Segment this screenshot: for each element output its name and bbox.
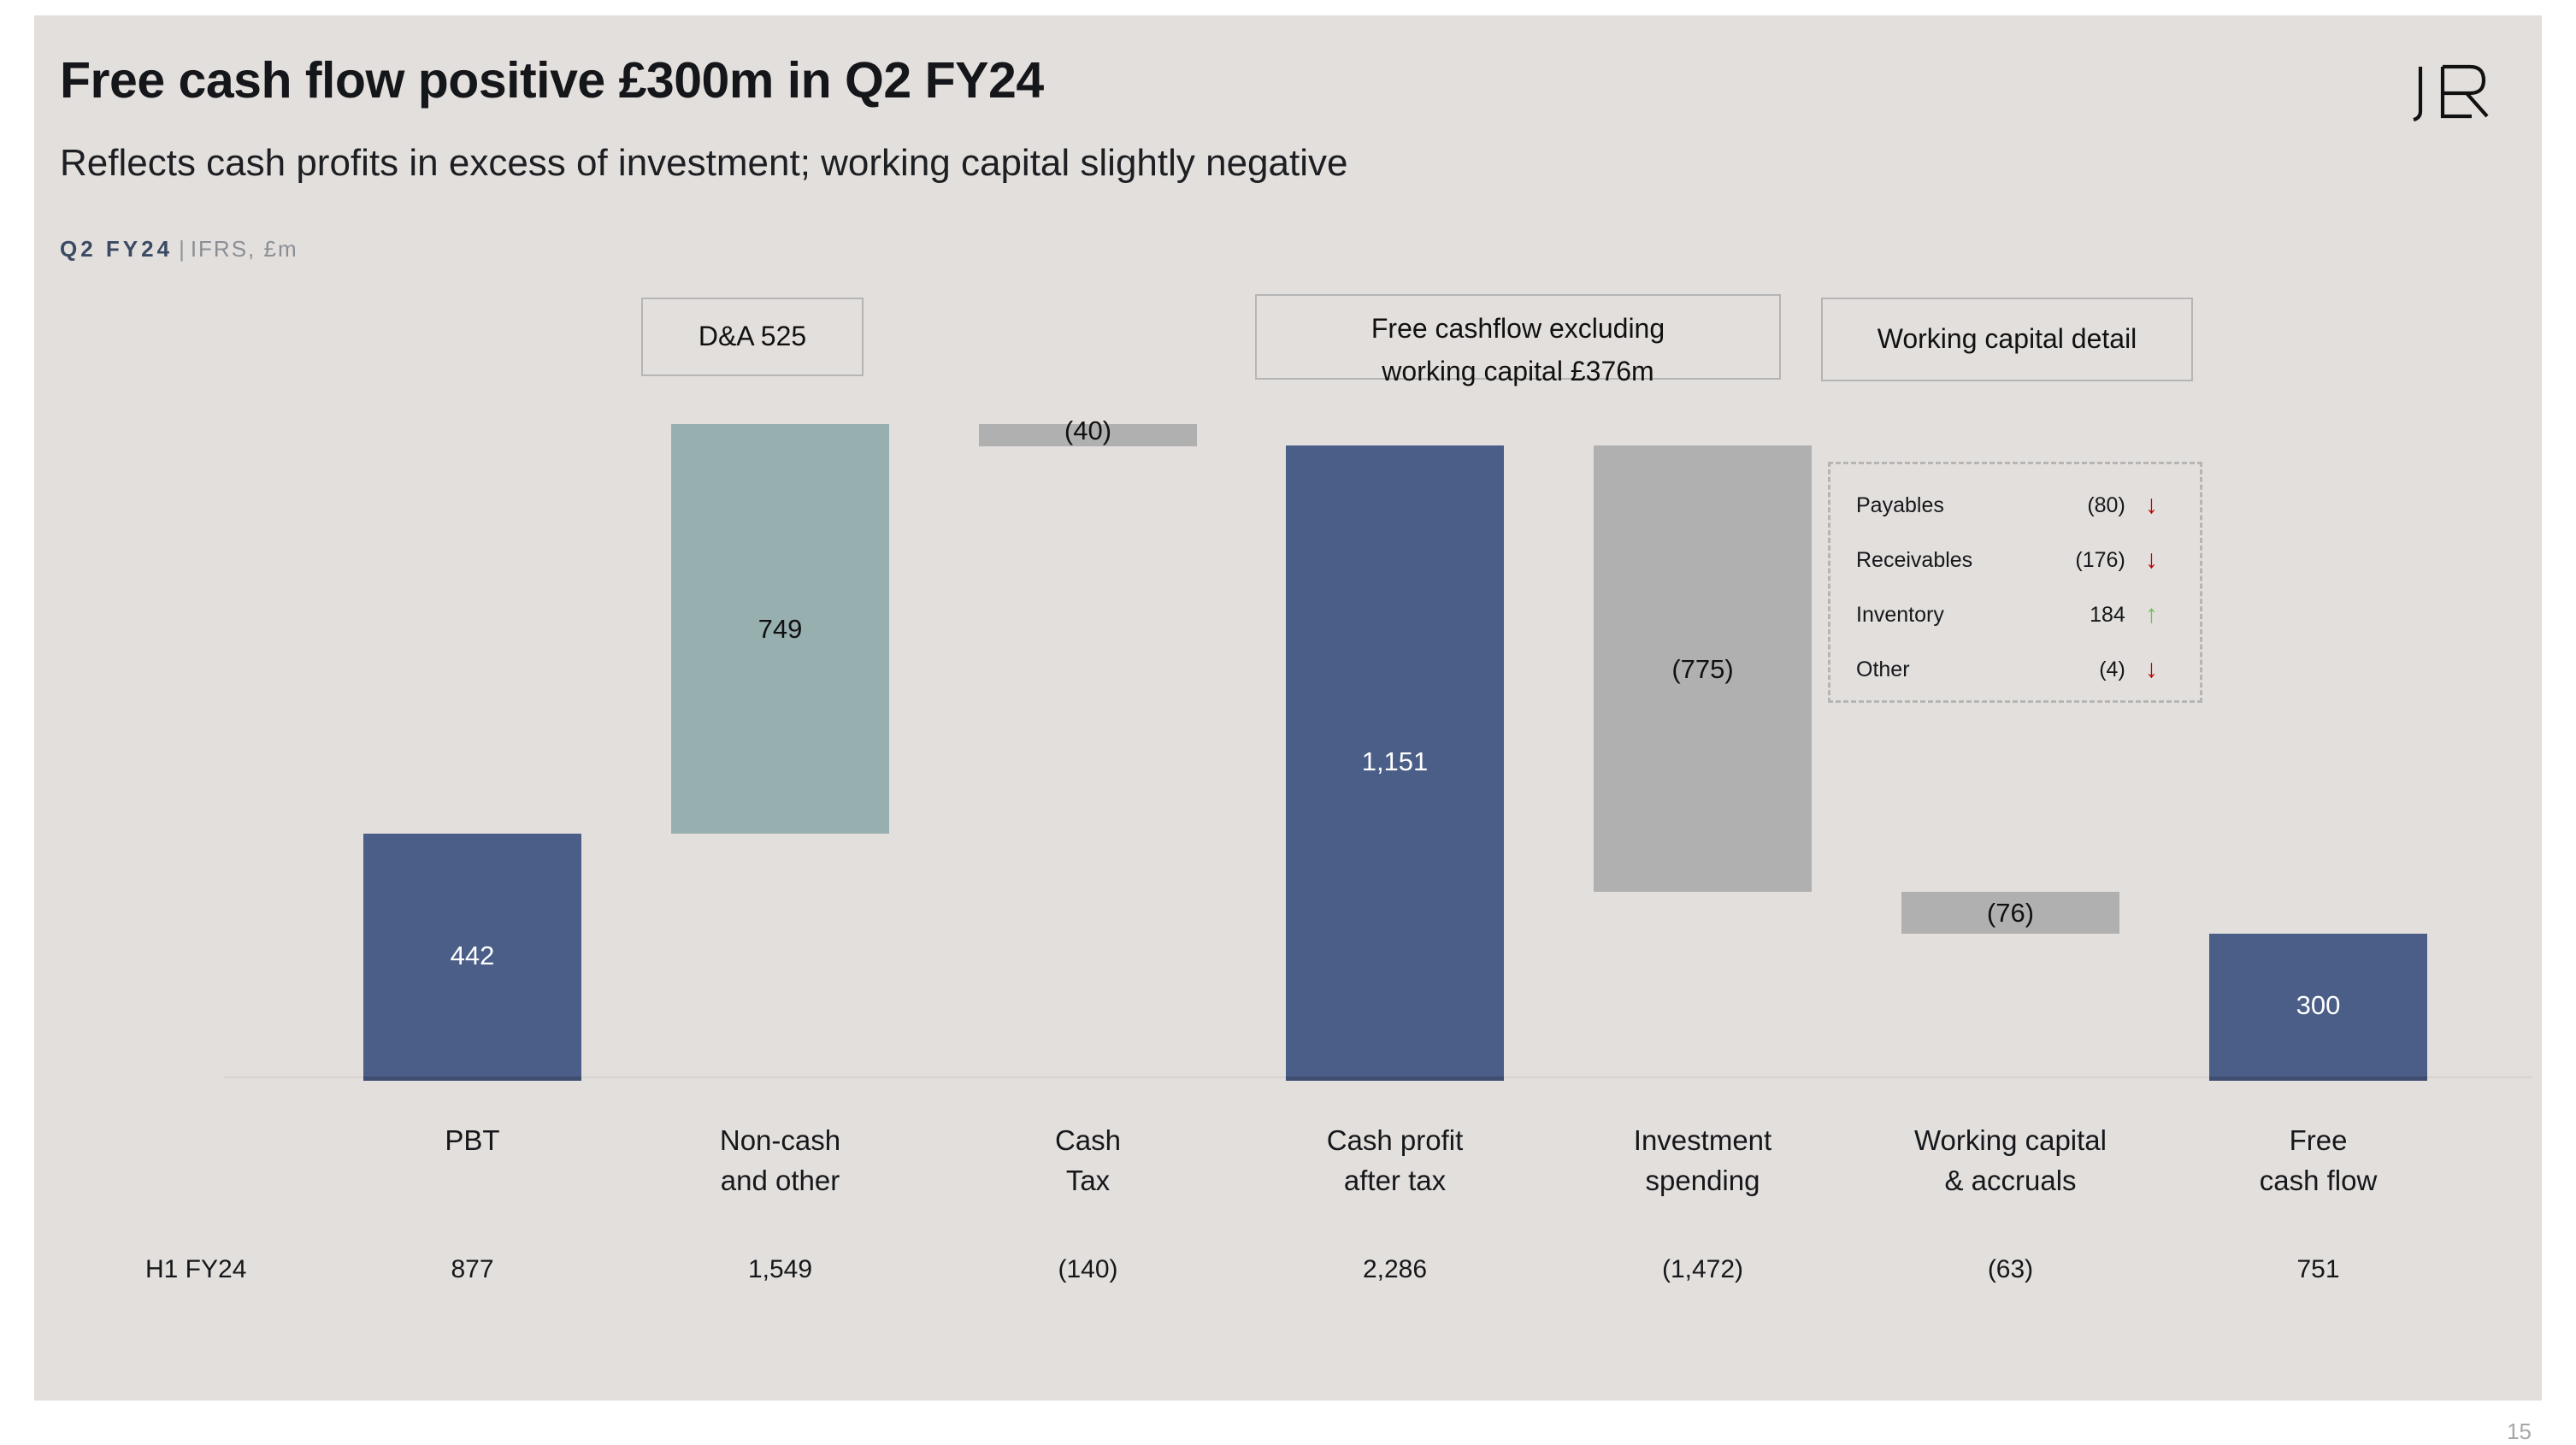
callout-fcf-ex-wc: Free cashflow excluding working capital … xyxy=(1255,294,1781,380)
wc-value: (80) xyxy=(2013,493,2125,518)
category-line-2: and other xyxy=(671,1161,889,1201)
wc-label: Other xyxy=(1856,658,2013,682)
bar-underline-pbt xyxy=(363,1076,581,1081)
wc-label: Payables xyxy=(1856,493,2013,518)
wc-value: 184 xyxy=(2013,603,2125,628)
wc-label: Inventory xyxy=(1856,603,2013,628)
bar-cash-profit-after-tax: 1,151 xyxy=(1286,445,1504,1076)
wc-value: (4) xyxy=(2013,658,2125,682)
comparison-value-cash-profit-after-tax: 2,286 xyxy=(1286,1255,1504,1284)
callout-fcf-line2: working capital £376m xyxy=(1257,351,1779,393)
bar-underline-cash-profit xyxy=(1286,1076,1504,1081)
wc-row-payables: Payables (80) ↓ xyxy=(1856,478,2178,533)
bar-underline-free-cash-flow xyxy=(2209,1076,2427,1081)
bar-pbt: 442 xyxy=(363,834,581,1076)
callout-da-label: D&A 525 xyxy=(699,316,806,358)
arrow-down-icon: ↓ xyxy=(2125,657,2178,682)
bar-free-cash-flow: 300 xyxy=(2209,934,2427,1076)
category-label-cash-profit-after-tax: Cash profit after tax xyxy=(1286,1121,1504,1201)
bar-cash-tax: (40) xyxy=(979,424,1197,446)
category-label-non-cash-and-other: Non-cash and other xyxy=(671,1121,889,1201)
bar-non-cash-and-other: 749 xyxy=(671,424,889,834)
bar-working-capital-accruals: (76) xyxy=(1901,892,2119,934)
category-label-working-capital-accruals: Working capital & accruals xyxy=(1867,1121,2154,1201)
waterfall-chart: D&A 525 Free cashflow excluding working … xyxy=(34,15,2542,1401)
category-line-2: after tax xyxy=(1286,1161,1504,1201)
comparison-value-free-cash-flow: 751 xyxy=(2209,1255,2427,1284)
category-line-1: Free xyxy=(2209,1121,2427,1161)
comparison-value-investment-spending: (1,472) xyxy=(1594,1255,1812,1284)
callout-da: D&A 525 xyxy=(641,298,864,376)
category-line-2: & accruals xyxy=(1867,1161,2154,1201)
category-label-pbt: PBT xyxy=(363,1121,581,1161)
comparison-value-pbt: 877 xyxy=(363,1255,581,1284)
wc-row-inventory: Inventory 184 ↑ xyxy=(1856,587,2178,642)
bar-value-label: (775) xyxy=(1671,656,1733,682)
category-line-1: PBT xyxy=(363,1121,581,1161)
category-line-2: Tax xyxy=(979,1161,1197,1201)
bar-value-label: 749 xyxy=(758,616,803,642)
category-line-2: spending xyxy=(1594,1161,1812,1201)
slide-canvas: Free cash flow positive £300m in Q2 FY24… xyxy=(34,15,2542,1401)
comparison-value-cash-tax: (140) xyxy=(979,1255,1197,1284)
category-line-1: Non-cash xyxy=(671,1121,889,1161)
bar-value-label: (40) xyxy=(1064,417,1111,444)
callout-wc-title-label: Working capital detail xyxy=(1877,318,2137,361)
bar-value-label: 1,151 xyxy=(1362,748,1429,775)
bar-investment-spending: (775) xyxy=(1594,445,1812,892)
comparison-value-working-capital-accruals: (63) xyxy=(1901,1255,2119,1284)
bar-value-label: (76) xyxy=(1987,899,2034,926)
category-line-1: Investment xyxy=(1594,1121,1812,1161)
category-label-investment-spending: Investment spending xyxy=(1594,1121,1812,1201)
wc-label: Receivables xyxy=(1856,548,2013,573)
category-label-free-cash-flow: Free cash flow xyxy=(2209,1121,2427,1201)
wc-row-receivables: Receivables (176) ↓ xyxy=(1856,533,2178,587)
page-number: 15 xyxy=(2507,1418,2532,1445)
working-capital-detail-box: Payables (80) ↓ Receivables (176) ↓ Inve… xyxy=(1828,462,2202,703)
bar-value-label: 300 xyxy=(2296,992,2341,1018)
arrow-down-icon: ↓ xyxy=(2125,547,2178,573)
category-label-cash-tax: Cash Tax xyxy=(979,1121,1197,1201)
arrow-down-icon: ↓ xyxy=(2125,492,2178,518)
bar-value-label: 442 xyxy=(451,942,495,969)
category-line-1: Cash xyxy=(979,1121,1197,1161)
category-line-2: cash flow xyxy=(2209,1161,2427,1201)
category-line-1: Working capital xyxy=(1867,1121,2154,1161)
wc-value: (176) xyxy=(2013,548,2125,573)
category-line-1: Cash profit xyxy=(1286,1121,1504,1161)
callout-fcf-line1: Free cashflow excluding xyxy=(1257,308,1779,351)
comparison-value-non-cash-and-other: 1,549 xyxy=(671,1255,889,1284)
comparison-row-label: H1 FY24 xyxy=(145,1255,246,1284)
arrow-up-icon: ↑ xyxy=(2125,602,2178,628)
wc-row-other: Other (4) ↓ xyxy=(1856,642,2178,697)
callout-wc-detail-title: Working capital detail xyxy=(1821,298,2193,381)
